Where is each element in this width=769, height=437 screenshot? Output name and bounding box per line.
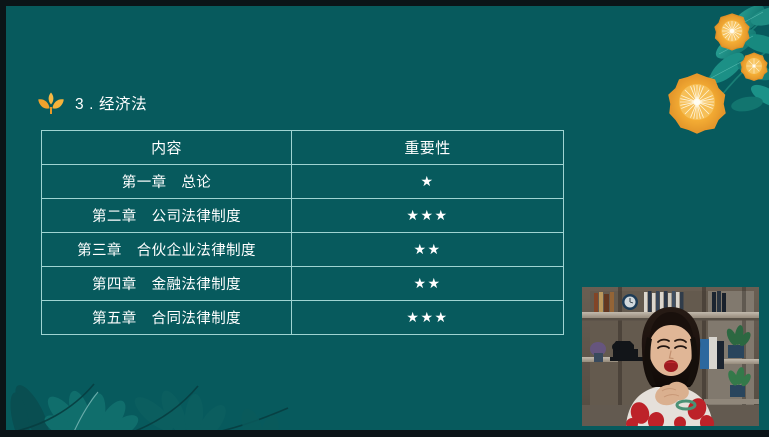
table-row: 第二章 公司法律制度 ★★★ — [42, 199, 564, 233]
importance-rating: ★★★ — [292, 301, 564, 335]
chapter-name: 第一章 总论 — [42, 165, 292, 199]
table-row: 第四章 金融法律制度 ★★ — [42, 267, 564, 301]
flower-shape — [669, 74, 725, 133]
column-header-content: 内容 — [42, 131, 292, 165]
flower-shape — [715, 14, 749, 50]
star-rating: ★★★ — [406, 310, 448, 324]
page-title: 3 . 经济法 — [75, 92, 147, 114]
star-rating: ★★ — [413, 276, 441, 290]
flower-shape — [741, 53, 767, 81]
slide-canvas: 3 . 经济法 内容 重要性 第一章 总论 ★ 第二章 公司法律制度 — [6, 6, 769, 430]
chapter-name: 第二章 公司法律制度 — [42, 199, 292, 233]
leaves-decoration-bottom-left — [6, 356, 332, 430]
importance-rating: ★★★ — [292, 199, 564, 233]
chapter-name: 第三章 合伙企业法律制度 — [42, 233, 292, 267]
importance-rating: ★★ — [292, 233, 564, 267]
leaf-mark-icon — [36, 90, 66, 116]
importance-rating: ★★ — [292, 267, 564, 301]
chapter-name: 第五章 合同法律制度 — [42, 301, 292, 335]
slide-stage: 3 . 经济法 内容 重要性 第一章 总论 ★ 第二章 公司法律制度 — [0, 0, 769, 437]
importance-rating: ★ — [292, 165, 564, 199]
table-row: 第五章 合同法律制度 ★★★ — [42, 301, 564, 335]
table-row: 第三章 合伙企业法律制度 ★★ — [42, 233, 564, 267]
star-rating: ★★★ — [406, 208, 448, 222]
table-header-row: 内容 重要性 — [42, 131, 564, 165]
leaf-shape — [705, 6, 769, 114]
chapter-name: 第四章 金融法律制度 — [42, 267, 292, 301]
column-header-importance: 重要性 — [292, 131, 564, 165]
course-importance-table: 内容 重要性 第一章 总论 ★ 第二章 公司法律制度 ★★★ 第三章 合伙企业法… — [41, 130, 564, 335]
table-row: 第一章 总论 ★ — [42, 165, 564, 199]
floral-decoration-top-right — [635, 6, 769, 150]
star-rating: ★★ — [413, 242, 441, 256]
presenter-video-frame — [582, 287, 759, 426]
slide-title-row: 3 . 经济法 — [36, 88, 147, 118]
star-rating: ★ — [420, 174, 434, 188]
presenter-video-feed[interactable] — [582, 287, 759, 426]
